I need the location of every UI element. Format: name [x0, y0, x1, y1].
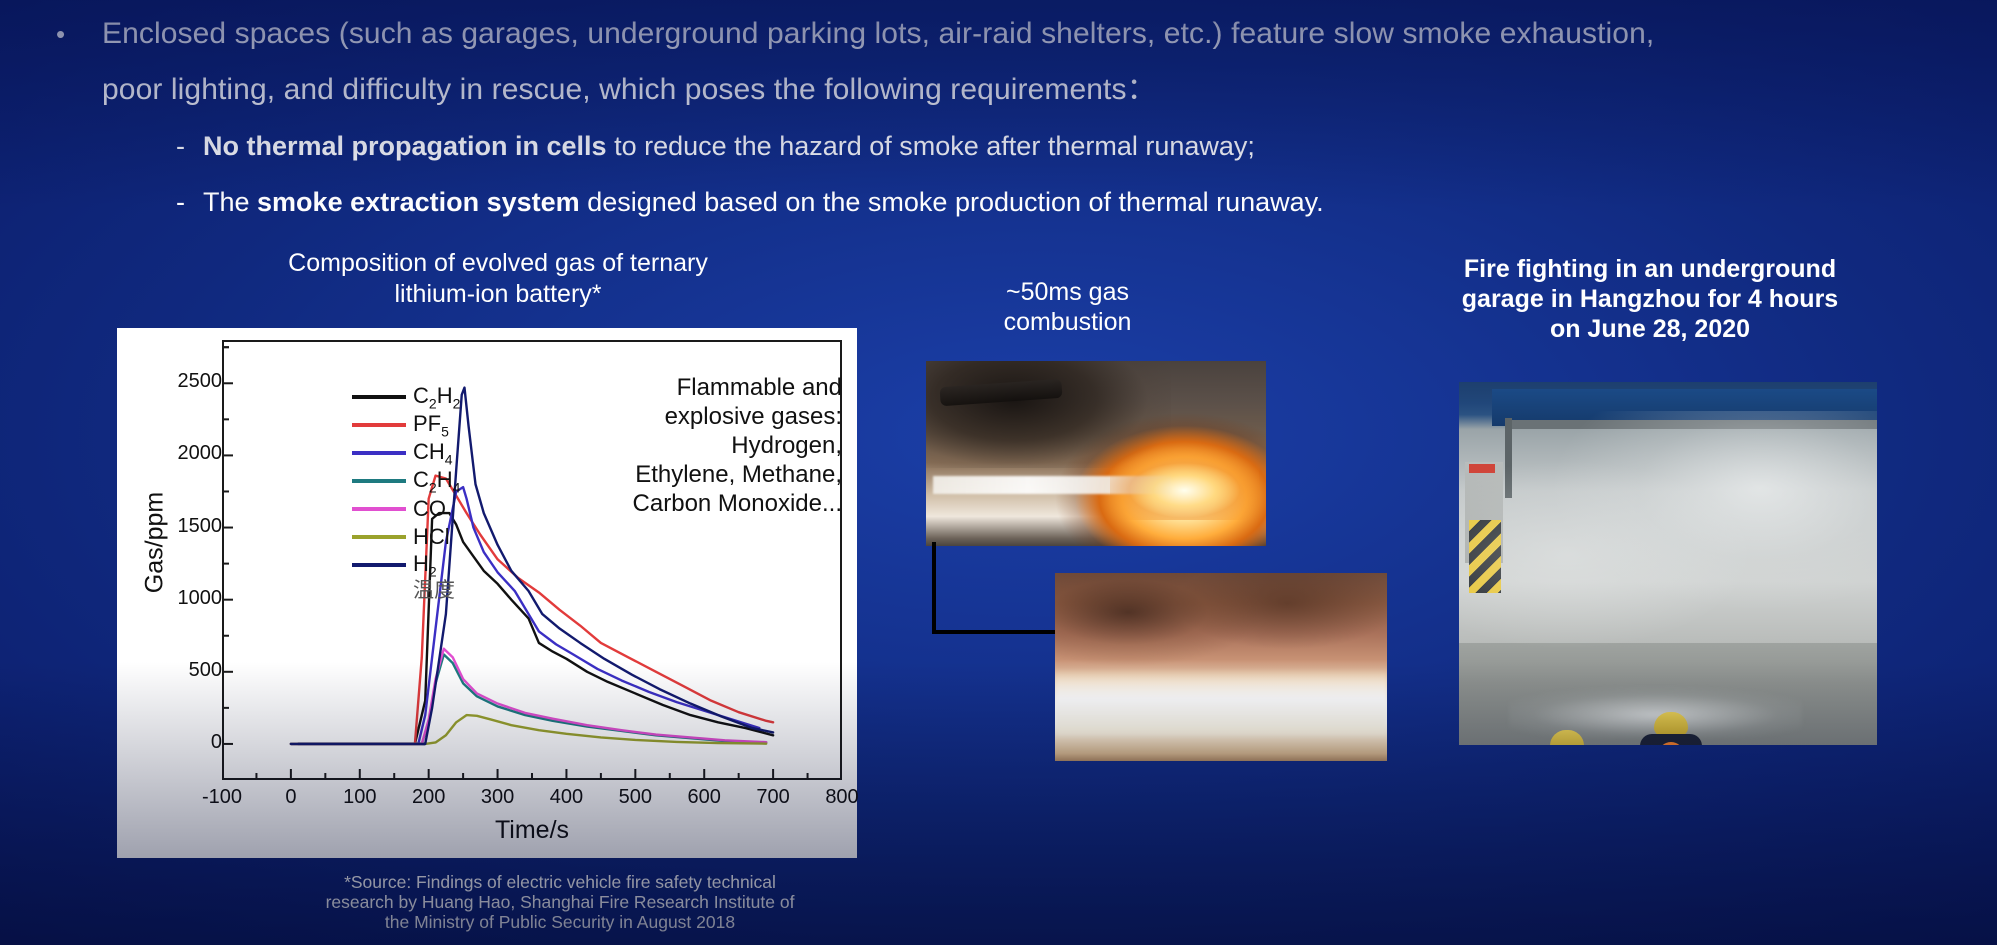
firefighters-garage-photo	[1459, 382, 1877, 745]
chart-source-note: *Source: Findings of electric vehicle fi…	[300, 872, 820, 932]
x-tick-label: 800	[807, 786, 877, 809]
legend-item-H2: H2	[352, 551, 460, 579]
sub-bullet-2-pre: The	[203, 187, 257, 217]
y-tick-label: 2500	[150, 370, 222, 393]
legend-swatch	[352, 535, 406, 539]
legend-label: HCl	[413, 524, 450, 550]
chart-panel-heading: Composition of evolved gas of ternary li…	[148, 248, 848, 310]
legend-swatch	[352, 423, 406, 427]
y-tick-label: 500	[150, 659, 222, 682]
fire-heading-line1: Fire fighting in an underground	[1400, 254, 1900, 284]
gas-photo-bottom-content	[1055, 573, 1387, 761]
legend-item-C2H2: C2H2	[352, 383, 460, 411]
legend-label-temperature-cn: 温度	[413, 579, 460, 603]
fire-panel-heading: Fire fighting in an underground garage i…	[1400, 254, 1900, 344]
source-line2: research by Huang Hao, Shanghai Fire Res…	[300, 892, 820, 912]
smoke-haze	[1459, 411, 1877, 687]
x-tick-label: 0	[256, 786, 326, 809]
chart-legend: C2H2PF5CH4C2H4COHClH2温度	[352, 383, 460, 603]
legend-swatch	[352, 451, 406, 455]
chart-inner: 05001000150020002500 -100010020030040050…	[117, 328, 857, 858]
sub-bullet-2-rest: designed based on the smoke production o…	[580, 187, 1324, 217]
legend-swatch	[352, 479, 406, 483]
legend-item-HCl: HCl	[352, 523, 460, 551]
chart-y-axis-label: Gas/ppm	[141, 443, 170, 643]
gas-heading-line2: combustion	[925, 307, 1210, 337]
legend-label: H2	[413, 551, 437, 579]
chart-annotation: Flammable and explosive gases: Hydrogen,…	[627, 373, 842, 518]
bullet-marker-dot: •	[56, 6, 102, 62]
legend-swatch	[352, 395, 406, 399]
firefighter-helmet	[1654, 712, 1688, 736]
legend-label: PF5	[413, 411, 449, 439]
legend-label: CO	[413, 496, 446, 522]
bullet-primary-continuation: poor lighting, and difficulty in rescue,…	[56, 62, 1886, 118]
chart-heading-line2: lithium-ion battery*	[148, 279, 848, 310]
legend-item-PF5: PF5	[352, 411, 460, 439]
firefighter-photo-content	[1459, 382, 1877, 745]
gas-combustion-photo-top	[926, 361, 1266, 546]
chart-heading-line1: Composition of evolved gas of ternary	[148, 248, 848, 279]
gas-panel-heading: ~50ms gas combustion	[925, 277, 1210, 337]
y-tick-label: 0	[150, 731, 222, 754]
bullet-text-block: • Enclosed spaces (such as garages, unde…	[56, 6, 1886, 230]
bullet-primary-line2: poor lighting, and difficulty in rescue,…	[102, 62, 1157, 118]
gas-combustion-photo-bottom	[1055, 573, 1387, 761]
sub-bullet-1-bold: No thermal propagation in cells	[203, 131, 607, 161]
legend-label: CH4	[413, 439, 453, 467]
slide-canvas: • Enclosed spaces (such as garages, unde…	[0, 0, 1997, 945]
sub-bullet-2-bold: smoke extraction system	[257, 187, 580, 217]
legend-swatch	[352, 507, 406, 511]
sub-bullet-2: - The smoke extraction system designed b…	[176, 174, 1886, 230]
legend-label: C2H2	[413, 383, 460, 411]
gas-composition-chart-card: 05001000150020002500 -100010020030040050…	[117, 328, 857, 858]
x-tick-label: 100	[325, 786, 395, 809]
legend-label: C2H4	[413, 467, 460, 495]
gas-heading-line1: ~50ms gas	[925, 277, 1210, 307]
gas-photo-top-content	[926, 361, 1266, 546]
bullet-primary: • Enclosed spaces (such as garages, unde…	[56, 6, 1886, 62]
flame-glow	[1110, 446, 1260, 520]
sub-bullet-1-marker: -	[176, 118, 203, 174]
x-tick-label: 600	[669, 786, 739, 809]
smoke-smear	[1055, 573, 1387, 682]
legend-item-CH4: CH4	[352, 439, 460, 467]
x-tick-label: 400	[531, 786, 601, 809]
series-C2H4	[291, 654, 766, 743]
legend-swatch	[352, 563, 406, 567]
x-tick-label: 500	[600, 786, 670, 809]
fire-heading-line2: garage in Hangzhou for 4 hours	[1400, 284, 1900, 314]
sub-bullet-2-marker: -	[176, 174, 203, 230]
chart-x-axis-label: Time/s	[222, 816, 842, 845]
legend-item-C2H4: C2H4	[352, 467, 460, 495]
bullet-primary-line1: Enclosed spaces (such as garages, underg…	[102, 6, 1654, 62]
flame-front-glow	[1055, 671, 1387, 735]
source-line3: the Ministry of Public Security in Augus…	[300, 912, 820, 932]
source-line1: *Source: Findings of electric vehicle fi…	[300, 872, 820, 892]
series-CO	[291, 649, 766, 744]
fire-heading-line3: on June 28, 2020	[1400, 314, 1900, 344]
sub-bullet-1-rest: to reduce the hazard of smoke after ther…	[607, 131, 1255, 161]
x-tick-label: 300	[463, 786, 533, 809]
x-tick-label: 700	[738, 786, 808, 809]
legend-item-CO: CO	[352, 495, 460, 523]
x-tick-label: 200	[394, 786, 464, 809]
sub-bullet-1: - No thermal propagation in cells to red…	[176, 118, 1886, 174]
x-tick-label: -100	[187, 786, 257, 809]
